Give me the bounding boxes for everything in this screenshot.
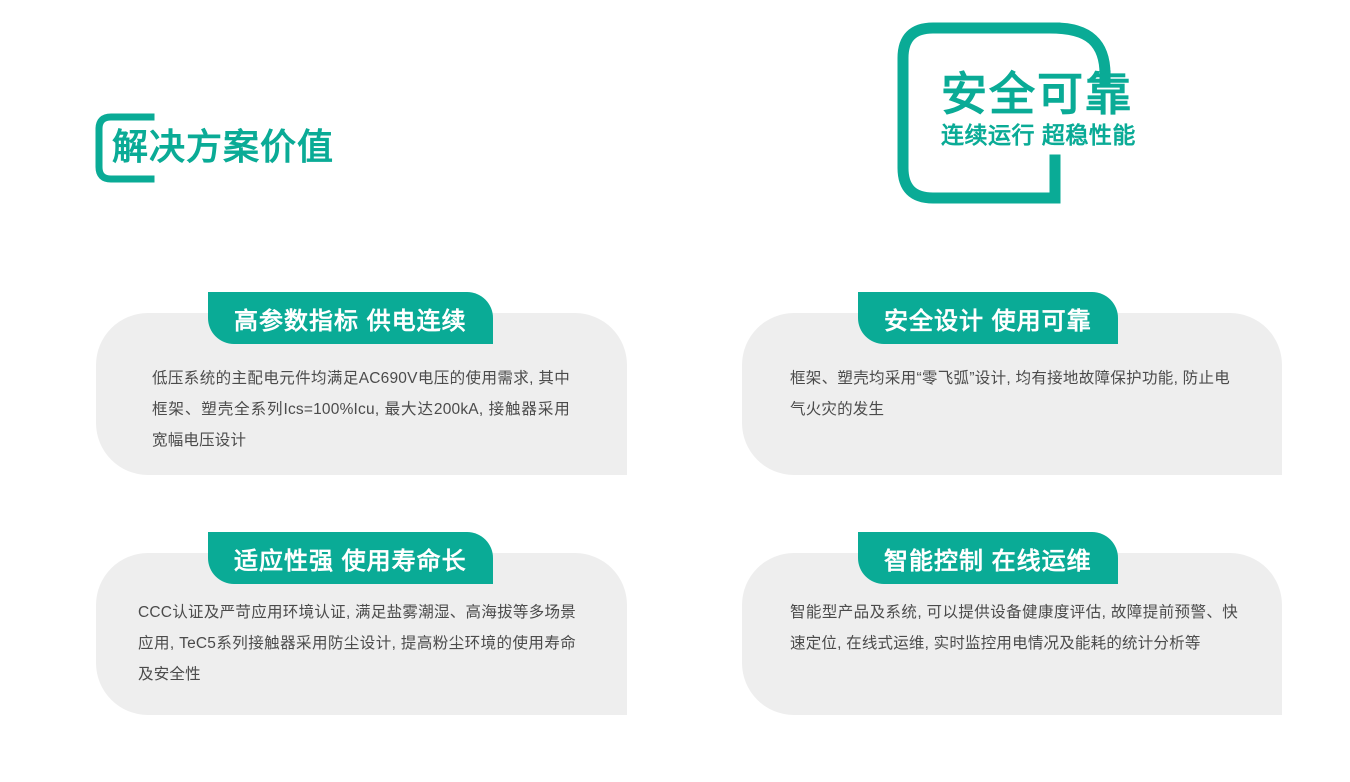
feature-card-grid: 低压系统的主配电元件均满足AC690V电压的使用需求, 其中框架、塑壳全系列Ic… [0,0,1350,782]
card-body-text: CCC认证及严苛应用环境认证, 满足盐雾潮湿、高海拔等多场景应用, TeC5系列… [138,597,576,690]
card-heading-high-parameters: 高参数指标 供电连续 [208,292,493,344]
card-heading-smart-control: 智能控制 在线运维 [858,532,1118,584]
card-body-text: 低压系统的主配电元件均满足AC690V电压的使用需求, 其中框架、塑壳全系列Ic… [152,363,570,456]
solution-value-page: 安全可靠 连续运行 超稳性能 解决方案价值 低压系统的主配电元件均满足AC690… [0,0,1350,782]
card-body-text: 智能型产品及系统, 可以提供设备健康度评估, 故障提前预警、快速定位, 在线式运… [790,597,1238,659]
card-heading-safe-design: 安全设计 使用可靠 [858,292,1118,344]
card-heading-adaptability: 适应性强 使用寿命长 [208,532,493,584]
card-body-text: 框架、塑壳均采用“零飞弧”设计, 均有接地故障保护功能, 防止电气火灾的发生 [790,363,1230,425]
